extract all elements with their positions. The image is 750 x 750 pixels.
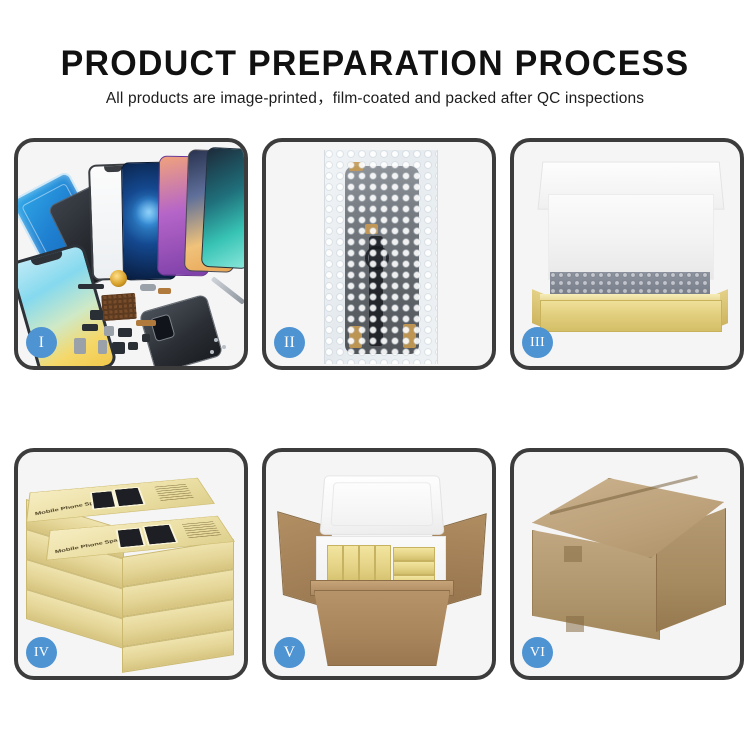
phone-back-cover-image [139, 294, 224, 370]
small-part-icon-2 [158, 288, 171, 294]
carton-tab-icon-2 [566, 616, 584, 632]
step-panel-6[interactable]: VI [510, 448, 744, 680]
box-spec-lines-1 [154, 484, 193, 501]
step-panel-4[interactable]: Mobile Phone Spare Parts Mobile Phone Sp… [14, 448, 248, 680]
box-window-image-4 [142, 524, 178, 546]
small-part-icon-3 [90, 310, 103, 320]
page-title: PRODUCT PREPARATION PROCESS [11, 44, 739, 84]
kraft-box-front-image [540, 300, 722, 332]
small-part-icon-11 [74, 338, 86, 354]
page-subtitle: All products are image-printed，film-coat… [0, 89, 750, 109]
step-badge-1: I [26, 327, 57, 358]
small-part-icon-7 [136, 320, 156, 326]
small-part-icon-12 [142, 334, 150, 342]
gold-coil-part-icon [110, 270, 127, 287]
box-spec-lines-2 [182, 521, 222, 538]
chip-board-part-icon [101, 293, 137, 321]
small-part-icon-6 [118, 328, 132, 337]
flex-ribbon-part-icon [78, 284, 104, 289]
step-badge-5: V [274, 637, 305, 668]
small-part-icon-8 [98, 340, 107, 354]
yellow-box-image-5 [393, 547, 435, 561]
step-panel-5[interactable]: V [262, 448, 496, 680]
product-preparation-infographic: PRODUCT PREPARATION PROCESS All products… [0, 0, 750, 750]
small-part-icon-4 [82, 324, 98, 331]
styrofoam-lid-image [320, 475, 445, 534]
step-panel-2[interactable]: II [262, 138, 496, 370]
carton-body-image [314, 590, 450, 666]
step-badge-2: II [274, 327, 305, 358]
step-badge-4: IV [26, 637, 57, 668]
screw-icon-3 [210, 350, 214, 354]
step-badge-3: III [522, 327, 553, 358]
yellow-box-image-4 [375, 545, 391, 585]
tweezers-icon [211, 276, 246, 305]
box-window-image-3 [116, 527, 146, 548]
step-badge-6: VI [522, 637, 553, 668]
top-box-lid-image-1: Mobile Phone Spare Parts [26, 478, 215, 523]
yellow-box-image-1 [327, 545, 343, 585]
small-part-icon-1 [140, 284, 156, 291]
teal-phone-screen-image [201, 147, 248, 269]
foam-sheet-image [548, 194, 714, 280]
carton-tab-icon-1 [564, 546, 582, 562]
bubble-texture-overlay [325, 150, 437, 364]
small-part-icon-10 [128, 342, 138, 350]
small-part-icon-5 [104, 326, 114, 336]
screw-icon-2 [222, 345, 226, 349]
yellow-box-image-3 [359, 545, 375, 585]
step-panel-1[interactable]: I [14, 138, 248, 370]
step-panel-3[interactable]: III [510, 138, 744, 370]
yellow-box-image-2 [343, 545, 359, 585]
box-window-image-2 [113, 487, 146, 508]
yellow-box-image-6 [393, 561, 435, 575]
small-part-icon-9 [112, 342, 125, 354]
bubble-wrap-bag-image [324, 150, 438, 364]
screw-icon-1 [214, 338, 218, 342]
